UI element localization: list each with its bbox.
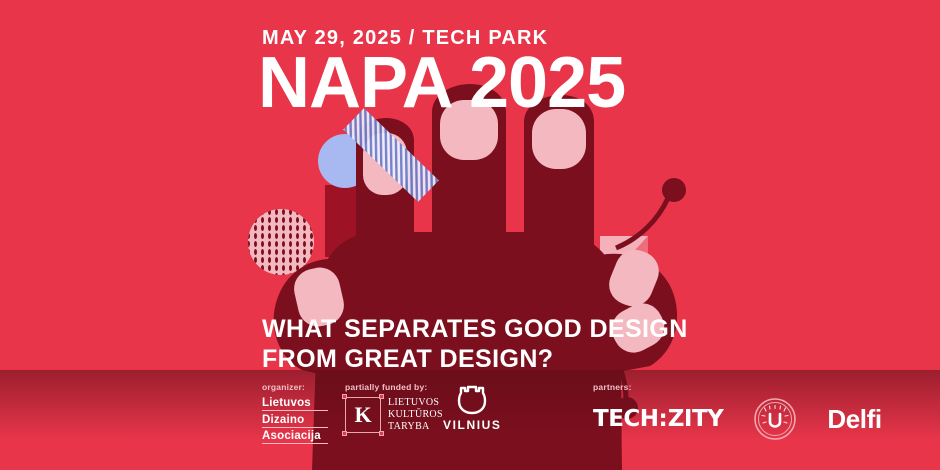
techzity-name-part1: TECH (593, 406, 659, 432)
partner-logo-delfi[interactable]: Delfi (827, 404, 881, 435)
lda-line-2: Dizaino (262, 414, 328, 428)
partners-row: TECH:ZITY Delfi (593, 397, 882, 441)
event-poster: MAY 29, 2025 / TECH PARK NAPA 2025 WHAT … (0, 0, 940, 470)
organizer-block: organizer: Lietuvos Dizaino Asociacija (262, 382, 328, 447)
lkt-bracket-mark: K (345, 397, 381, 433)
lkt-logo[interactable]: K LIETUVOS KULTŪROS TARYBA (345, 397, 443, 434)
organizer-logo-lda[interactable]: Lietuvos Dizaino Asociacija (262, 397, 328, 444)
page-title: NAPA 2025 (258, 50, 625, 116)
funded-by-label: partially funded by: (345, 382, 443, 392)
techzity-separator: : (659, 406, 668, 432)
lkt-name: LIETUVOS KULTŪROS TARYBA (388, 397, 443, 434)
smiley-emblem-icon[interactable] (753, 397, 797, 441)
partners-label: partners: (593, 382, 882, 392)
event-tagline: WHAT SEPARATES GOOD DESIGN FROM GREAT DE… (262, 315, 688, 374)
castle-icon (457, 383, 487, 415)
lkt-letter-k: K (345, 397, 381, 433)
partner-logo-techzity[interactable]: TECH:ZITY (593, 406, 723, 432)
vilnius-logo[interactable]: VILNIUS (443, 383, 502, 432)
footer-credits: organizer: Lietuvos Dizaino Asociacija p… (0, 375, 940, 470)
partners-block: partners: TECH:ZITY (593, 382, 882, 441)
organizer-label: organizer: (262, 382, 328, 392)
lda-line-3: Asociacija (262, 430, 328, 444)
vilnius-wordmark: VILNIUS (443, 418, 502, 432)
funded-by-block: partially funded by: K LIETUVOS KULTŪROS… (345, 382, 443, 434)
lda-line-1: Lietuvos (262, 397, 328, 411)
techzity-name-part2: ZITY (668, 406, 724, 432)
